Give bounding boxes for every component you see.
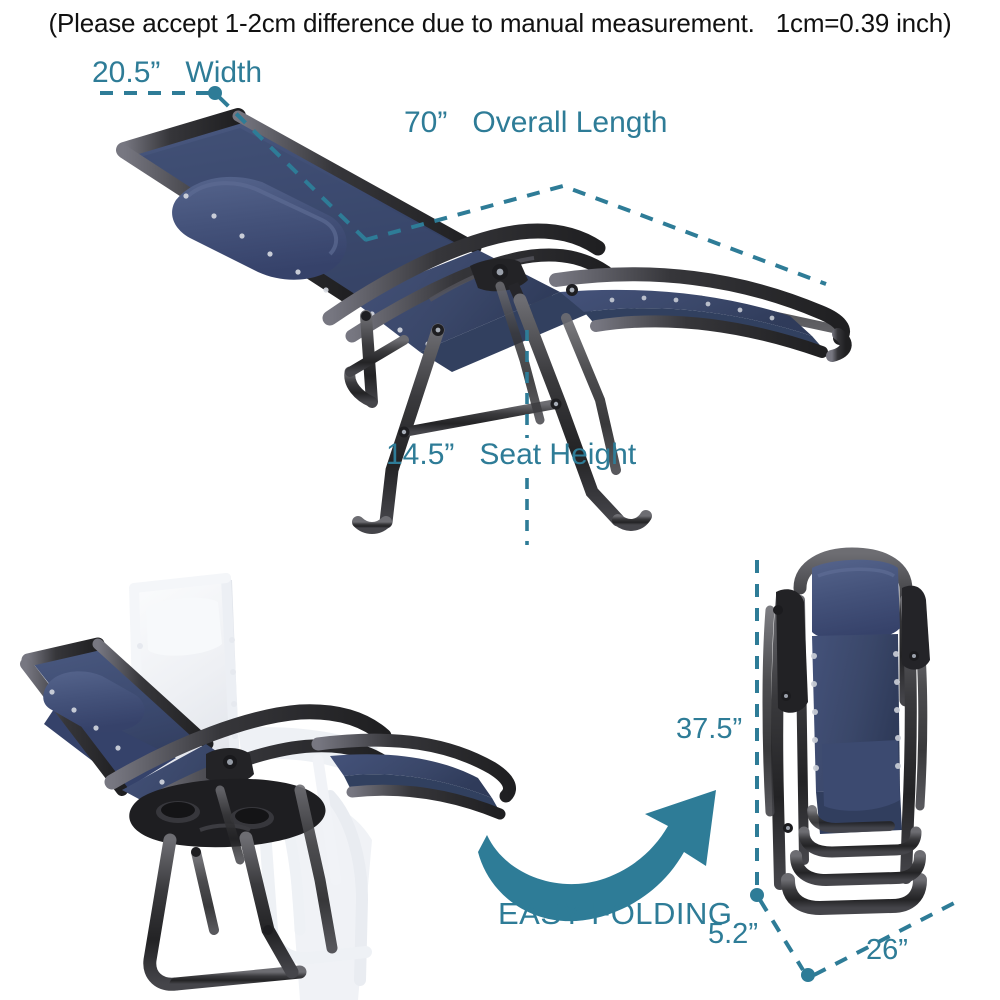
seat-height-label: 14.5” Seat Height (386, 440, 636, 470)
product-dimension-diagram: (Please accept 1-2cm difference due to m… (0, 0, 1000, 1000)
overall-length-label: 70” Overall Length (404, 108, 667, 138)
width-label: 20.5” Width (92, 58, 262, 88)
easy-folding-caption: EASY FOLDING (498, 896, 733, 932)
folded-height-label: 37.5” (676, 715, 742, 744)
folded-width-label: 26” (866, 936, 908, 965)
dimension-labels: 20.5” Width 70” Overall Length 14.5” Sea… (0, 0, 1000, 1000)
